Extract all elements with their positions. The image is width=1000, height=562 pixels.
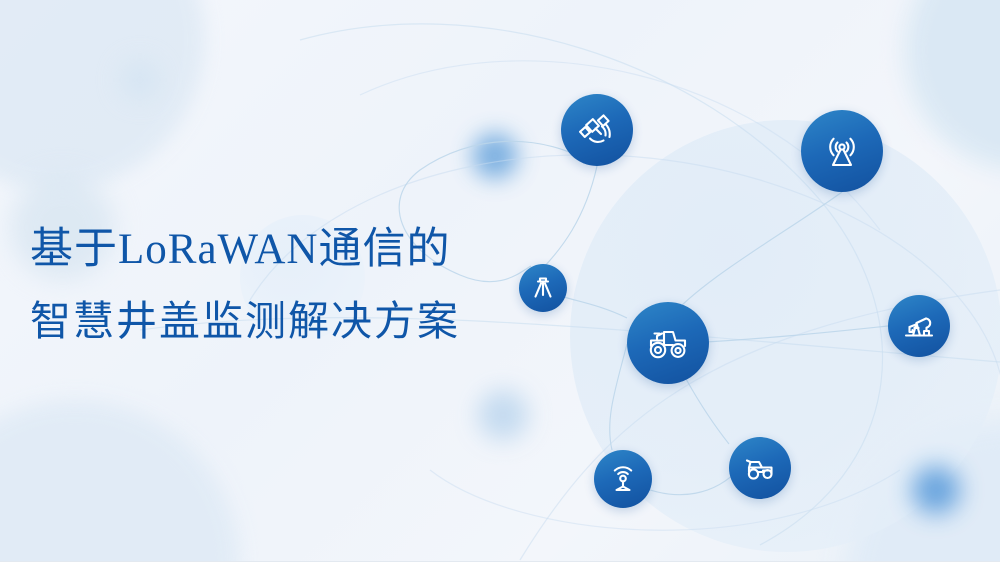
background-blob-top-right <box>905 0 1000 170</box>
node-satellite[interactable] <box>561 94 633 166</box>
node-radio-tower[interactable] <box>801 110 883 192</box>
accent-dot-upper <box>472 133 518 179</box>
title-line-1: 基于LoRaWAN通信的 <box>30 228 570 271</box>
title-block: 基于LoRaWAN通信的 智慧井盖监测解决方案 <box>30 228 570 342</box>
background-blob-top-left <box>0 0 205 190</box>
node-harvester[interactable] <box>729 437 791 499</box>
oil-pumpjack-icon <box>901 308 937 344</box>
slide-canvas: 基于LoRaWAN通信的 智慧井盖监测解决方案 <box>0 0 1000 562</box>
accent-dot-top-left <box>120 60 160 100</box>
background-blob-bottom-left <box>0 400 240 562</box>
background-blob-bottom-right <box>845 420 1000 562</box>
accent-dot-lower-left <box>478 390 528 440</box>
harvester-icon <box>742 450 778 486</box>
wireless-sensor-icon <box>606 462 640 496</box>
node-tractor[interactable] <box>627 302 709 384</box>
accent-dot-lower-right <box>912 466 960 514</box>
title-line-2: 智慧井盖监测解决方案 <box>30 301 570 342</box>
node-wireless-sensor[interactable] <box>594 450 652 508</box>
tractor-icon <box>644 319 692 367</box>
satellite-dish-icon <box>577 110 617 150</box>
radio-tower-icon <box>819 128 865 174</box>
node-oil-pumpjack[interactable] <box>888 295 950 357</box>
